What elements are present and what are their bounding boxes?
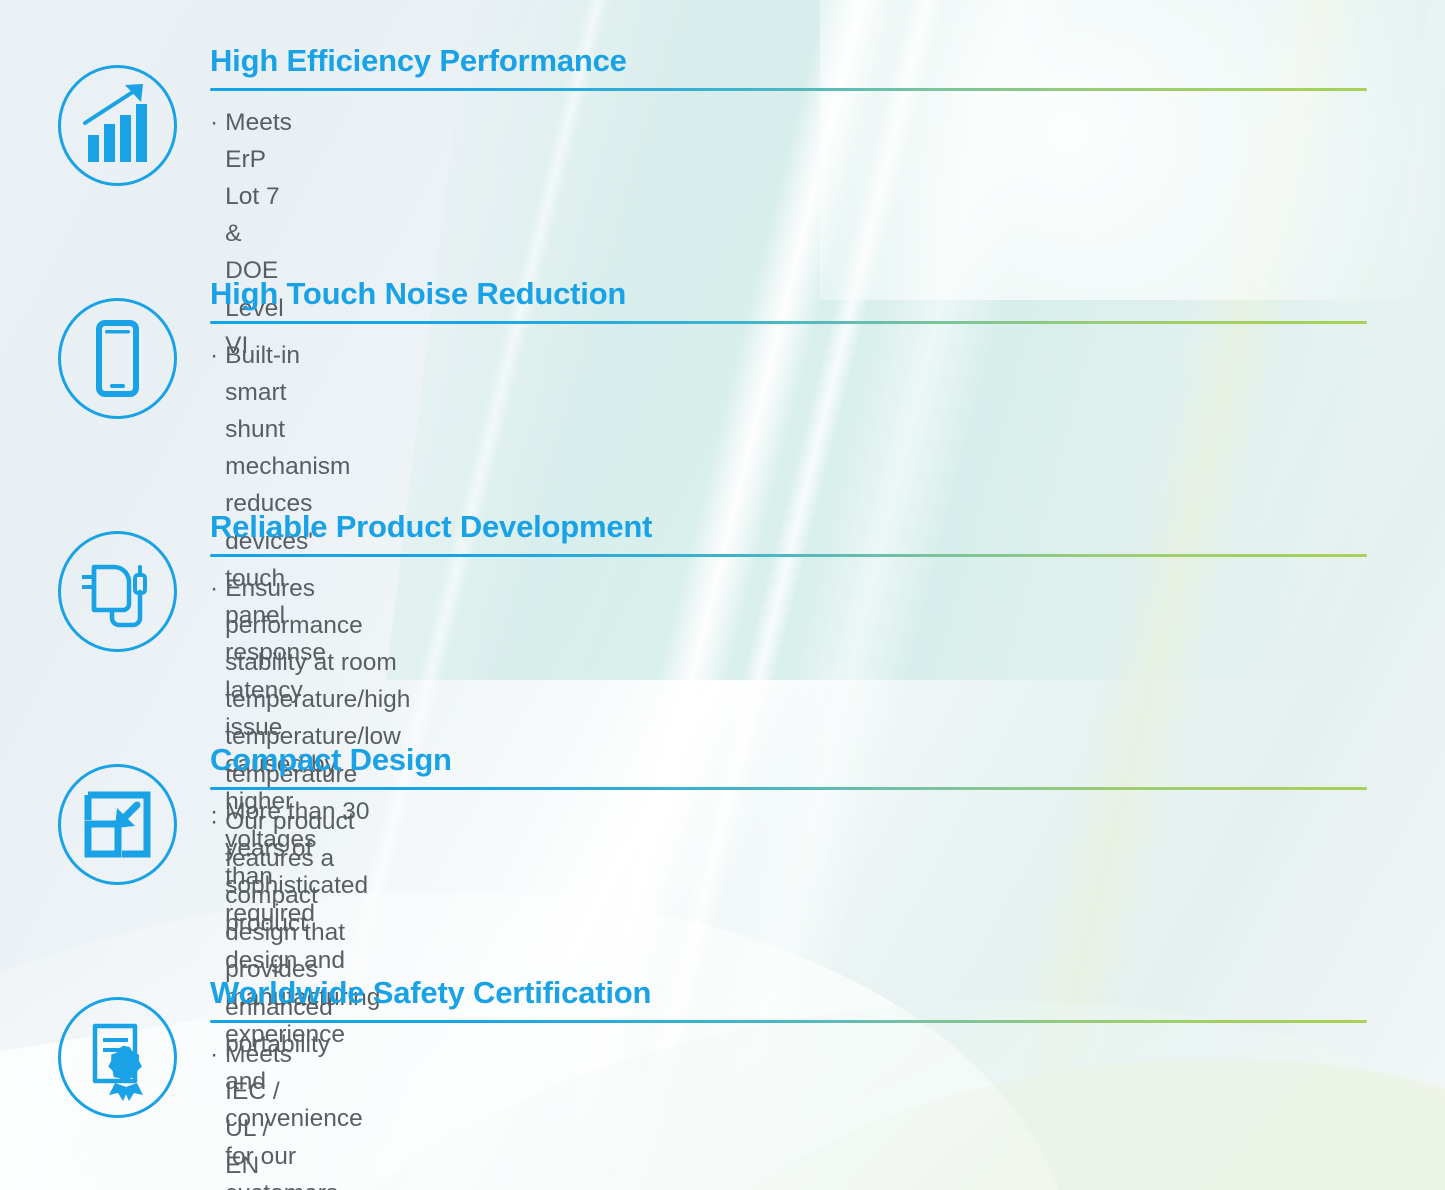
feature-divider [210,1020,1367,1023]
bullet-marker: · [210,337,218,374]
feature-divider [210,88,1367,91]
bullet-marker: · [210,104,218,141]
compact-resize-icon [55,762,180,887]
power-adapter-icon [55,529,180,654]
feature-highlights-page: High Efficiency Performance · Meets ErP … [0,0,1445,1190]
bullet-marker: · [210,1036,218,1073]
bullet-text: Meets IEC / UL / EN 62368-1 [225,1036,301,1190]
features-list: High Efficiency Performance · Meets ErP … [0,0,1445,1190]
certificate-seal-icon [55,995,180,1120]
bar-chart-growth-icon [55,63,180,188]
bullet-marker: · [210,803,218,840]
smartphone-icon [55,296,180,421]
bullet-marker: · [210,570,218,607]
feature-divider [210,554,1367,557]
bullet-text: Meets ErP Lot 7 & DOE Level VI [225,104,292,365]
feature-divider [210,321,1367,324]
feature-divider [210,787,1367,790]
